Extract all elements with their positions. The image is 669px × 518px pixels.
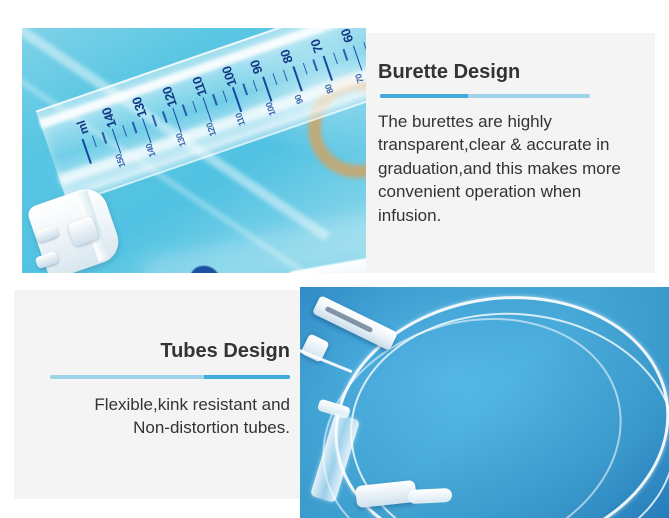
tube-connector (408, 488, 453, 504)
burette-text-card: Burette Design The burettes are highly t… (366, 33, 655, 273)
tubes-title: Tubes Design (24, 340, 290, 363)
burette-barrel: ml 140150 130140 120130 110120 100110 90… (36, 28, 366, 205)
tubes-product-image (300, 287, 669, 518)
burette-description: The burettes are highly transparent,clea… (378, 110, 647, 227)
burette-product-image: ml 140150 130140 120130 110120 100110 90… (22, 28, 366, 273)
tubes-description-line-2: Non-distortion tubes. (24, 416, 290, 439)
tubes-divider (50, 375, 290, 379)
photo-light-streak (141, 197, 366, 273)
divider-fill (380, 94, 468, 98)
graduation-unit-label: ml (74, 118, 92, 136)
tubes-section: Tubes Design Flexible,kink resistant and… (0, 281, 669, 518)
tubes-text-card: Tubes Design Flexible,kink resistant and… (14, 290, 304, 499)
burette-divider (380, 94, 590, 98)
burette-title: Burette Design (378, 61, 647, 84)
tubes-description-line-1: Flexible,kink resistant and (24, 393, 290, 416)
burette-section: ml 140150 130140 120130 110120 100110 90… (0, 0, 669, 281)
divider-fill (204, 375, 290, 379)
